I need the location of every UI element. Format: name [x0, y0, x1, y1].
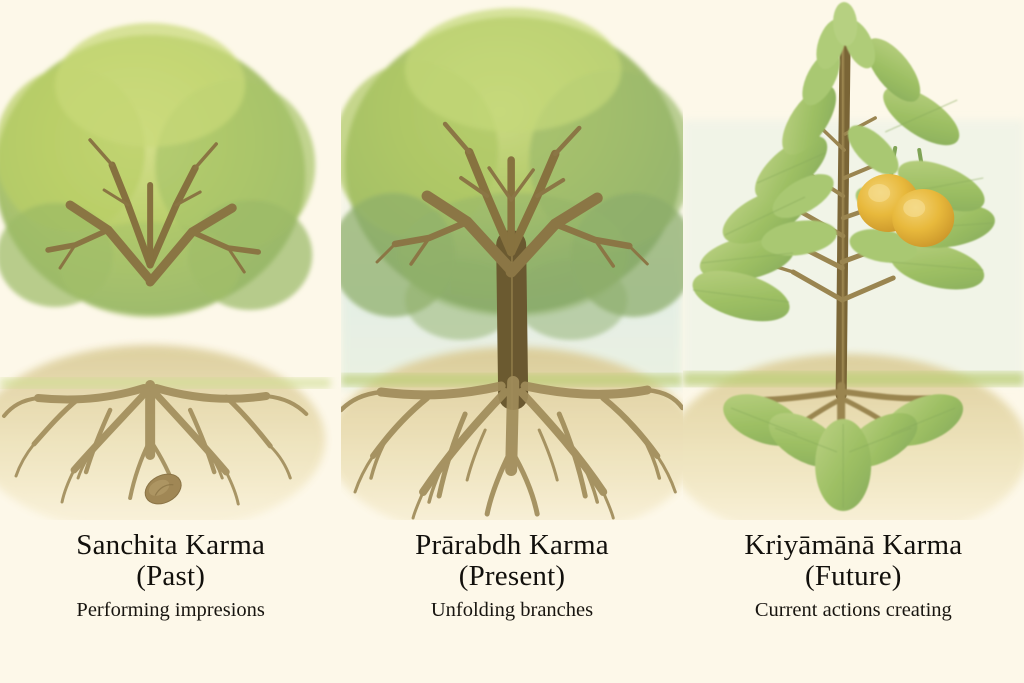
caption-sanchita: Sanchita Karma (Past) Performing impresi…: [0, 520, 341, 683]
caption-kriyamana: Kriyāmānā Karma (Future) Current actions…: [683, 520, 1024, 683]
caption-name: Sanchita Karma: [0, 530, 341, 561]
caption-subtitle-prarabdh: Unfolding branches: [341, 599, 682, 622]
captions-row: Sanchita Karma (Past) Performing impresi…: [0, 520, 1024, 683]
caption-name: Kriyāmānā Karma: [683, 530, 1024, 561]
caption-period: (Past): [0, 561, 341, 592]
karma-illustration-page: Sanchita Karma (Past) Performing impresi…: [0, 0, 1024, 683]
caption-subtitle-sanchita: Performing impresions: [0, 599, 341, 622]
caption-title-prarabdh: Prārabdh Karma (Present): [341, 530, 682, 593]
caption-period: (Future): [683, 561, 1024, 592]
caption-title-kriyamana: Kriyāmānā Karma (Future): [683, 530, 1024, 593]
fruit-right: [892, 189, 954, 247]
caption-period: (Present): [341, 561, 682, 592]
tree-illustration-kriyamana: [683, 0, 1024, 520]
caption-name: Prārabdh Karma: [341, 530, 682, 561]
tree-illustration-sanchita: [0, 0, 341, 520]
caption-subtitle-kriyamana: Current actions creating: [683, 599, 1024, 622]
caption-prarabdh: Prārabdh Karma (Present) Unfolding branc…: [341, 520, 682, 683]
caption-title-sanchita: Sanchita Karma (Past): [0, 530, 341, 593]
tree-illustration-prarabdh: [341, 0, 682, 520]
